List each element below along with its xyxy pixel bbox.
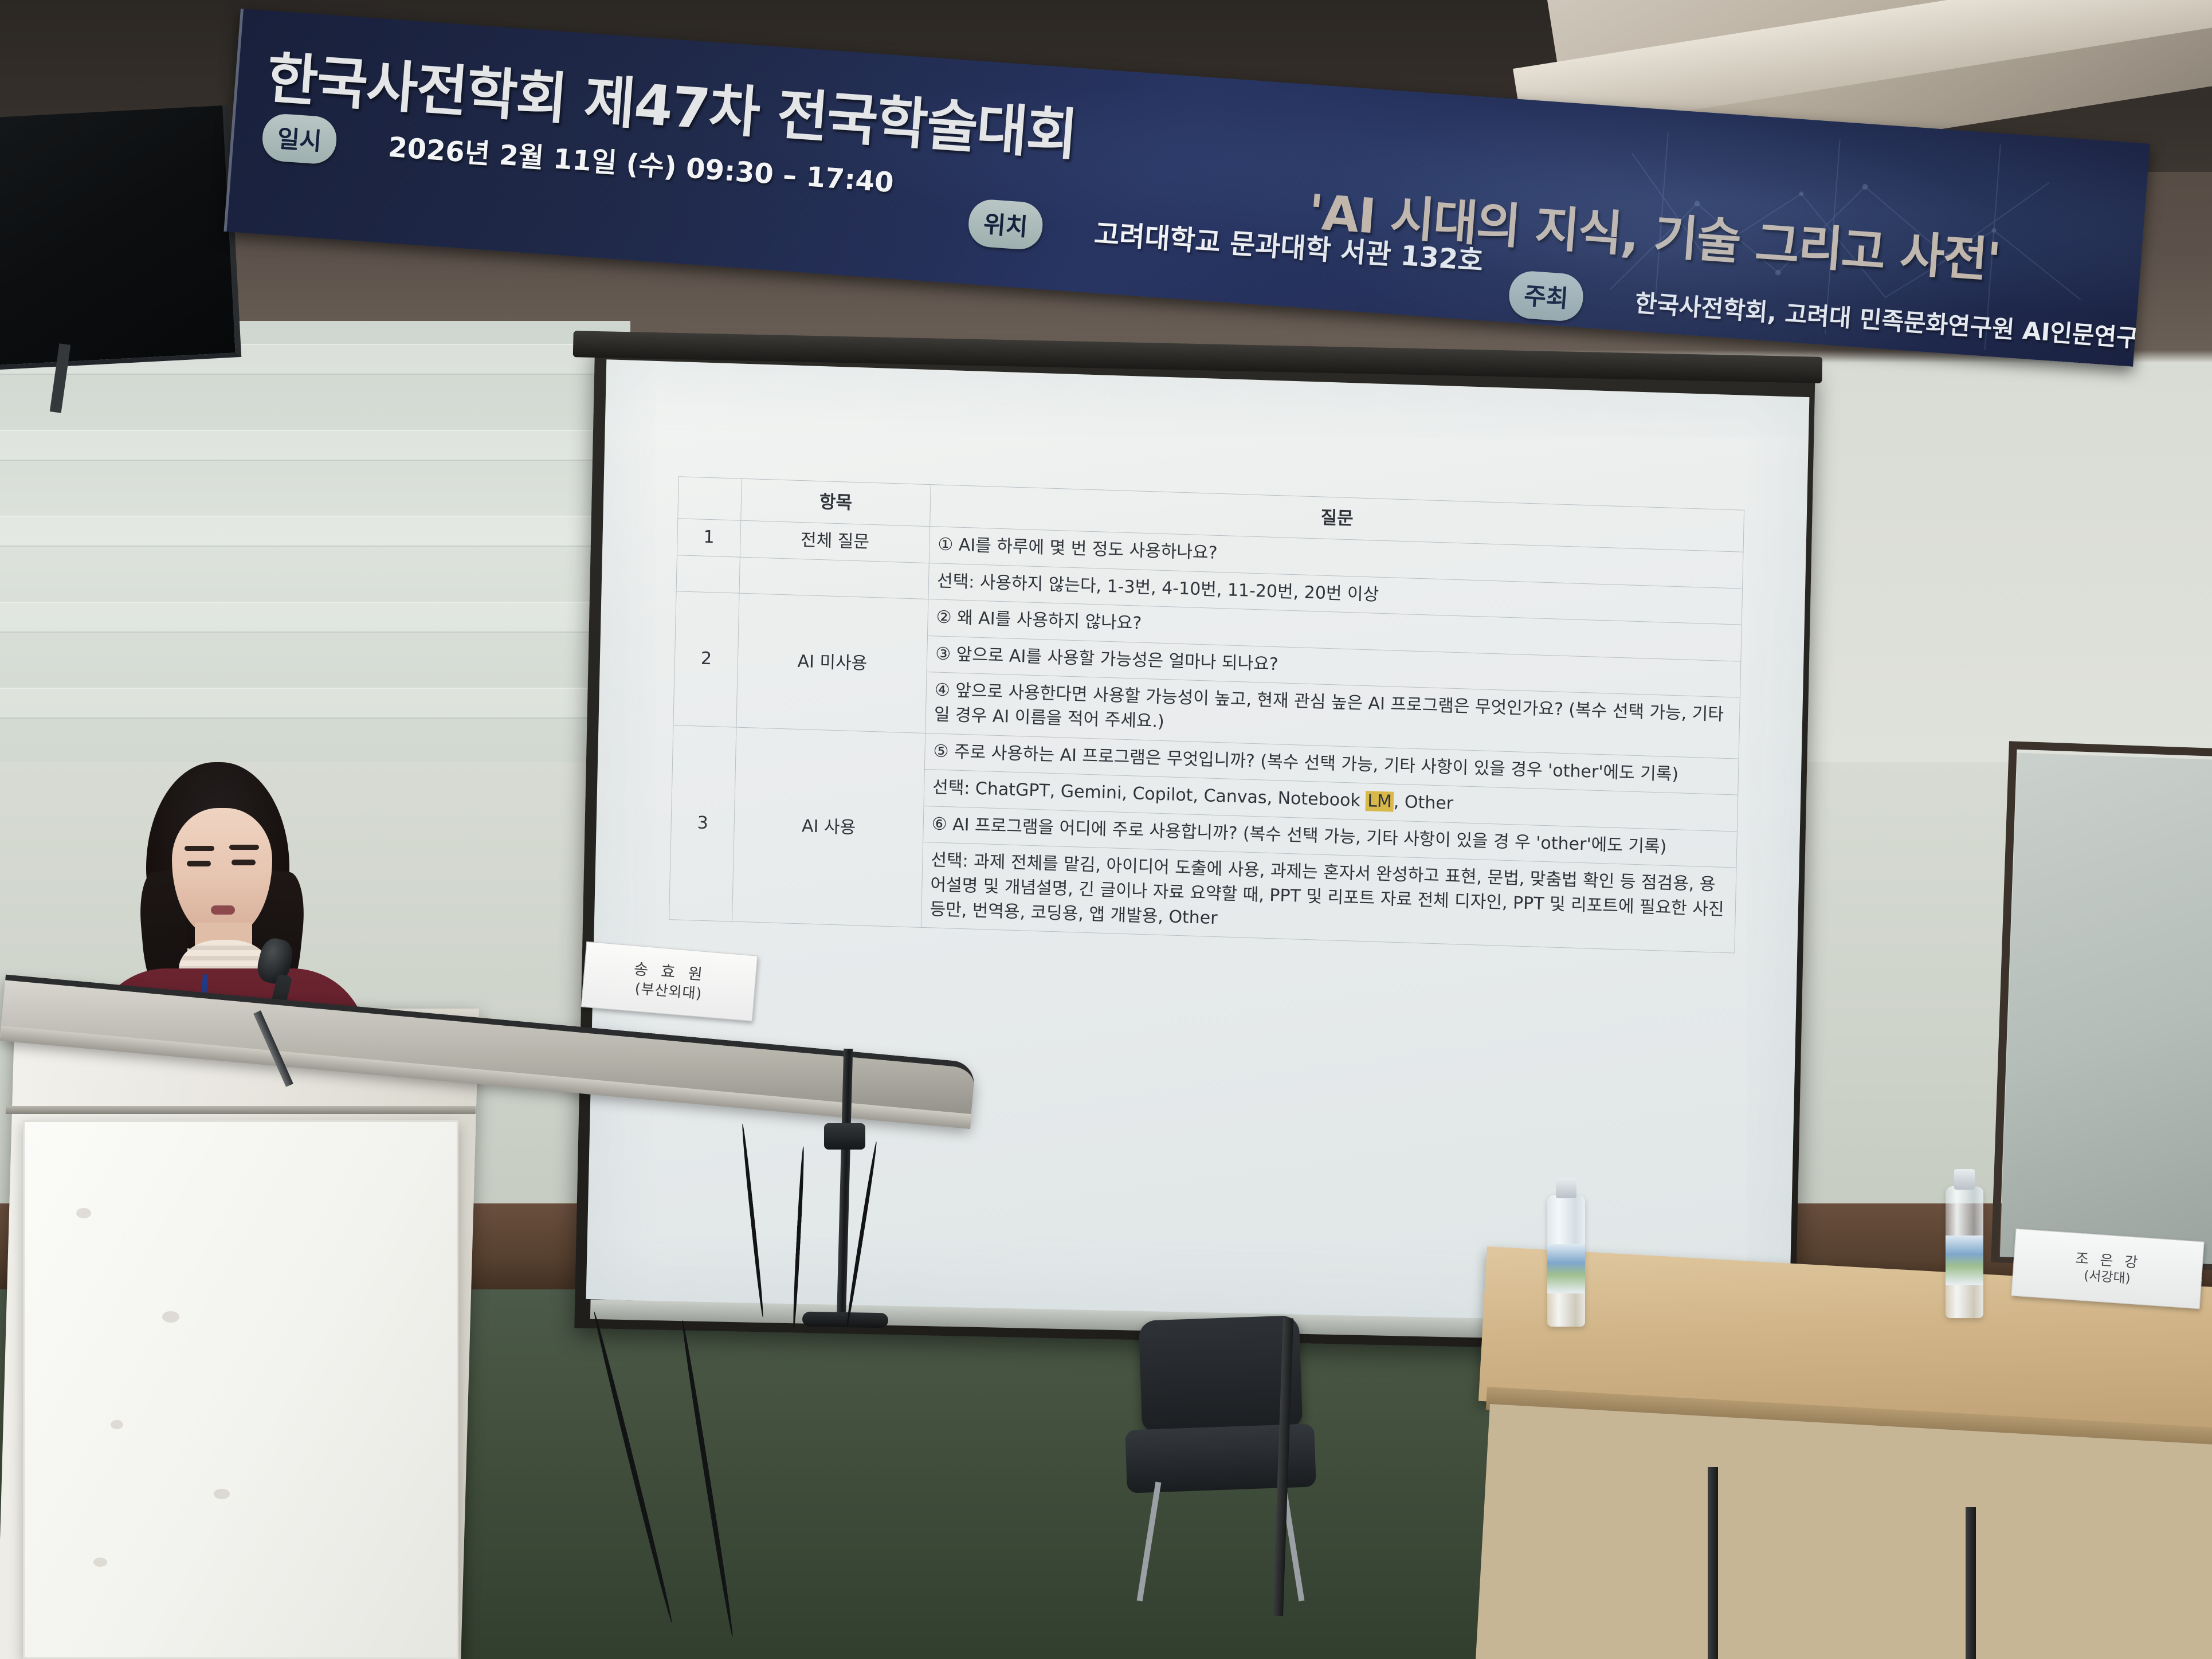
row-item-label: AI 사용 bbox=[732, 727, 925, 928]
col-header-item: 항목 bbox=[741, 479, 931, 526]
row-item-label: AI 미사용 bbox=[736, 593, 928, 733]
row-index: 1 bbox=[677, 519, 740, 557]
name-placard-panelist: 조 은 강 (서강대) bbox=[2011, 1229, 2204, 1309]
row-item-label: 전체 질문 bbox=[740, 520, 929, 563]
wall-monitor-left bbox=[0, 105, 241, 371]
ai-tools-list-tail: , Other bbox=[1394, 792, 1454, 814]
banner-date-chip: 일시 bbox=[261, 112, 338, 165]
highlighted-term: LM bbox=[1366, 791, 1394, 812]
options-prefix: 선택: bbox=[932, 778, 976, 799]
whiteboard-panel bbox=[23, 1120, 458, 1659]
row-item-spacer bbox=[739, 557, 929, 599]
survey-question-table: 항목 질문 1 전체 질문 ① AI를 하루에 몇 번 정도 사용하나요? bbox=[669, 476, 1744, 953]
banner-location-chip: 위치 bbox=[967, 198, 1044, 251]
slide-content: 항목 질문 1 전체 질문 ① AI를 하루에 몇 번 정도 사용하나요? bbox=[661, 476, 1750, 1312]
options-line: 선택: 과제 전체를 맡김, 아이디어 도출에 사용, 과제는 혼자서 완성하고… bbox=[929, 849, 1728, 947]
table-leg bbox=[1708, 1467, 1718, 1659]
podium-rail bbox=[6, 1106, 476, 1114]
projection-screen: 항목 질문 1 전체 질문 ① AI를 하루에 몇 번 정도 사용하나요? bbox=[586, 359, 1810, 1337]
lecture-hall-photo: 항목 질문 1 전체 질문 ① AI를 하루에 몇 번 정도 사용하나요? bbox=[0, 0, 2212, 1659]
placard-affiliation: (서강대) bbox=[2083, 1268, 2131, 1287]
row-index-spacer bbox=[676, 555, 740, 593]
banner-subtitle: 'AI 시대의 지식, 기술 그리고 사전' bbox=[1306, 174, 2002, 292]
mic-stand-base bbox=[802, 1312, 888, 1328]
water-bottle bbox=[1946, 1186, 1983, 1318]
speaker-mouth bbox=[211, 905, 235, 915]
row-index: 2 bbox=[673, 591, 739, 727]
chair-backrest bbox=[1139, 1315, 1303, 1433]
banner-host-chip: 주최 bbox=[1508, 270, 1585, 323]
col-header-index bbox=[678, 477, 742, 520]
speaker-face bbox=[172, 808, 272, 937]
right-board-surface bbox=[2000, 753, 2212, 1265]
water-bottle bbox=[1547, 1195, 1585, 1327]
mic-stand-clamp bbox=[824, 1123, 865, 1150]
ai-tools-list: ChatGPT, Gemini, Copilot, Canvas, Notebo… bbox=[975, 779, 1366, 811]
table-leg bbox=[1966, 1507, 1976, 1659]
panel-table-skirt bbox=[1475, 1404, 2212, 1659]
row-index: 3 bbox=[669, 725, 736, 921]
